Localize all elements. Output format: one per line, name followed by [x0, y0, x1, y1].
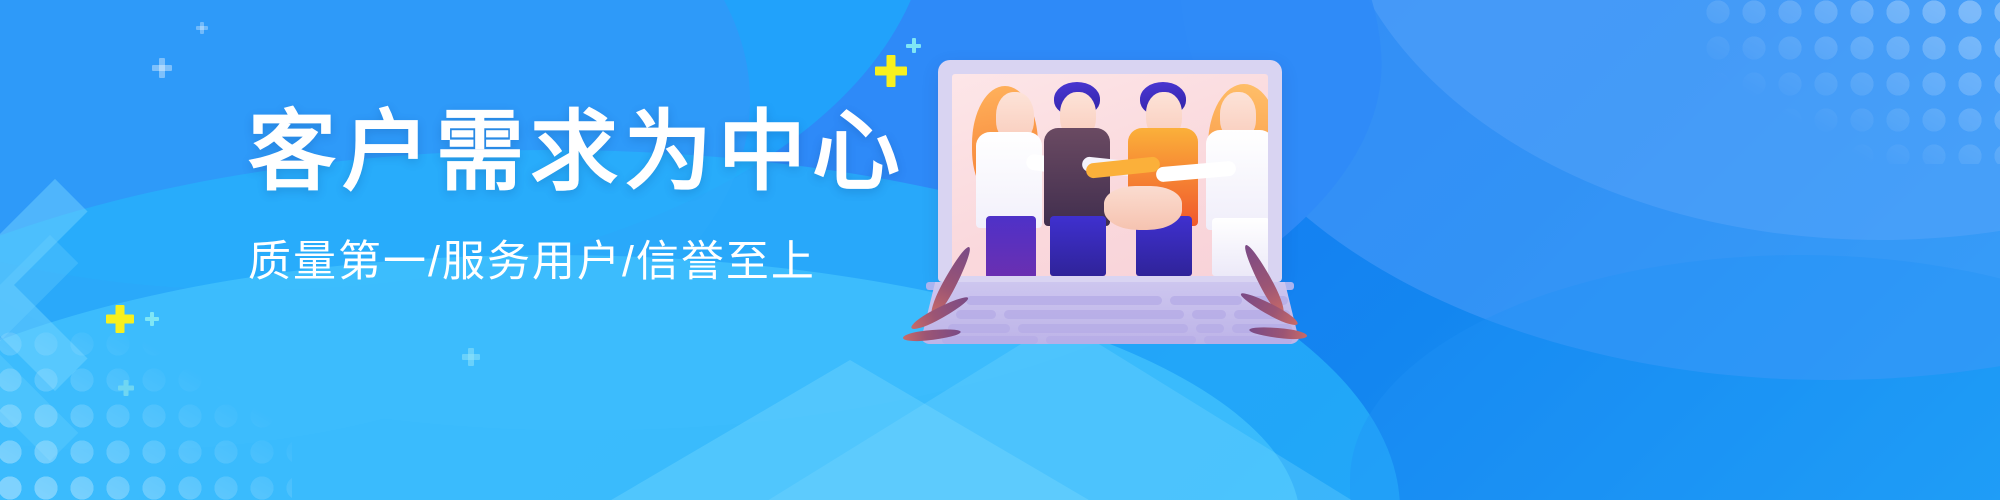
keyboard-key — [1192, 310, 1226, 319]
hero-banner: 客户需求为中心 质量第一/服务用户/信誉至上 — [0, 0, 2000, 500]
keyboard-key — [1004, 310, 1184, 319]
dot-grid-bottom-left — [0, 326, 292, 500]
keyboard-key — [1046, 336, 1196, 344]
joined-hands — [1104, 186, 1182, 230]
banner-text-block: 客户需求为中心 质量第一/服务用户/信誉至上 — [248, 104, 888, 289]
plus-white-upper-icon — [152, 58, 172, 78]
laptop-screen — [952, 74, 1268, 276]
banner-subheadline: 质量第一/服务用户/信誉至上 — [248, 227, 888, 289]
keyboard-key — [956, 310, 996, 319]
laptop-lid — [938, 60, 1282, 282]
plus-cyan-small-icon — [906, 38, 921, 53]
banner-headline: 客户需求为中心 — [248, 104, 888, 199]
top-garment — [976, 132, 1042, 228]
plus-yellow-bottom-icon — [106, 305, 134, 333]
laptop-base — [920, 282, 1300, 344]
bottom-garment — [1050, 216, 1106, 276]
keyboard-key — [1196, 324, 1224, 333]
top-garment — [1206, 130, 1268, 230]
dot-grid-top-right — [1700, 0, 2000, 164]
bg-wave-bottom-right — [1350, 255, 2000, 500]
keyboard-key — [1170, 296, 1242, 305]
keyboard-key — [942, 336, 1038, 344]
plus-white-small-icon — [196, 22, 208, 34]
bg-triangle-center-2 — [560, 360, 1140, 500]
person-man-left — [1036, 78, 1126, 276]
person-woman-right — [1198, 78, 1268, 276]
bottom-garment — [986, 216, 1036, 276]
plus-cyan-bottom-small-icon — [145, 312, 159, 326]
plus-yellow-large-icon — [875, 55, 907, 87]
keyboard-key — [1018, 324, 1188, 333]
keyboard-key — [966, 296, 1162, 305]
plus-cyan-mid-icon — [118, 380, 134, 396]
plus-cyan-lower-icon — [462, 348, 480, 366]
laptop-illustration — [920, 60, 1300, 350]
